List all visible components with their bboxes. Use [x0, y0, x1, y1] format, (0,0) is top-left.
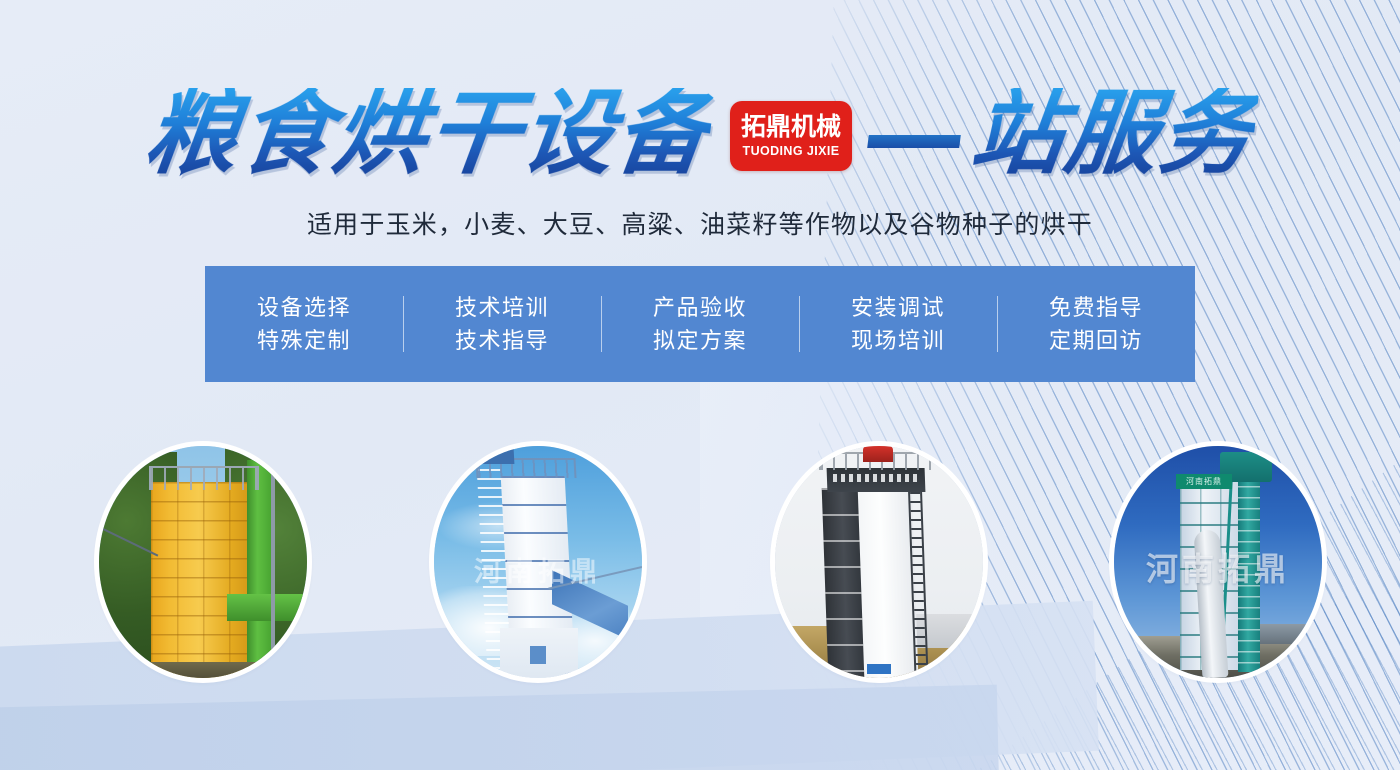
- product-photo-row: 河南拓鼎: [0, 440, 1400, 690]
- product-photo-1: [99, 446, 307, 678]
- photo-3-dark-column: [822, 488, 865, 678]
- photo-1-ground: [99, 662, 307, 678]
- feature-item-1: 设备选择 特殊定制: [205, 291, 403, 358]
- photo-2-watermark: 河南拓鼎: [434, 550, 642, 589]
- feature-item-2-line1: 技术培训: [403, 291, 601, 324]
- promo-banner: 粮食烘干设备 拓鼎机械 TUODING JIXIE 站服务 适用于玉米，小麦、大…: [0, 0, 1400, 770]
- photo-2-access-door: [530, 646, 546, 664]
- brand-logo-badge: 拓鼎机械 TUODING JIXIE: [730, 101, 852, 171]
- feature-item-4-line2: 现场培训: [799, 324, 997, 357]
- photo-3-label-strip: [833, 474, 919, 482]
- feature-item-2: 技术培训 技术指导: [403, 291, 601, 358]
- photo-1-top-railing: [149, 466, 259, 490]
- photo-1-scene: [99, 446, 307, 678]
- bottom-band-lower: [0, 685, 1000, 770]
- dash-stroke-icon: [867, 135, 961, 148]
- photo-1-dryer-tower: [151, 482, 255, 678]
- product-photo-4: 河南拓鼎 河南拓鼎: [1114, 446, 1322, 678]
- feature-item-4-line1: 安装调试: [799, 291, 997, 324]
- photo-3-red-motor: [863, 446, 893, 462]
- headline-title-left: 粮食烘干设备: [140, 88, 715, 180]
- feature-item-3-line2: 拟定方案: [601, 324, 799, 357]
- photo-4-scene: 河南拓鼎 河南拓鼎: [1114, 446, 1322, 678]
- feature-item-5-line1: 免费指导: [997, 291, 1195, 324]
- headline: 粮食烘干设备 拓鼎机械 TUODING JIXIE 站服务: [0, 78, 1400, 190]
- photo-3-base-marker: [867, 664, 891, 674]
- photo-2-head-unit: [478, 448, 515, 464]
- feature-item-5: 免费指导 定期回访: [997, 291, 1195, 358]
- photo-3-scene: [775, 446, 983, 678]
- photo-1-pole: [271, 472, 275, 676]
- photo-1-elevator: [247, 460, 273, 678]
- feature-item-5-line2: 定期回访: [997, 324, 1195, 357]
- feature-item-1-line2: 特殊定制: [205, 324, 403, 357]
- feature-item-3-line1: 产品验收: [601, 291, 799, 324]
- feature-item-2-line2: 技术指导: [403, 324, 601, 357]
- subtitle-text: 适用于玉米，小麦、大豆、高粱、油菜籽等作物以及谷物种子的烘干: [0, 205, 1400, 241]
- feature-item-1-line1: 设备选择: [205, 291, 403, 324]
- brand-name-cn: 拓鼎机械: [741, 114, 841, 140]
- photo-2-scene: 河南拓鼎: [434, 446, 642, 678]
- photo-4-brand-sign: 河南拓鼎: [1176, 474, 1232, 489]
- product-photo-2: 河南拓鼎: [434, 446, 642, 678]
- feature-bar: 设备选择 特殊定制 技术培训 技术指导 产品验收 拟定方案 安装调试 现场培训 …: [205, 266, 1195, 382]
- brand-name-en: TUODING JIXIE: [743, 144, 840, 158]
- feature-item-4: 安装调试 现场培训: [799, 291, 997, 358]
- headline-title-right: 站服务: [966, 88, 1259, 180]
- product-photo-3: [775, 446, 983, 678]
- photo-1-duct: [227, 594, 307, 621]
- photo-4-watermark: 河南拓鼎: [1114, 544, 1322, 590]
- feature-item-3: 产品验收 拟定方案: [601, 291, 799, 358]
